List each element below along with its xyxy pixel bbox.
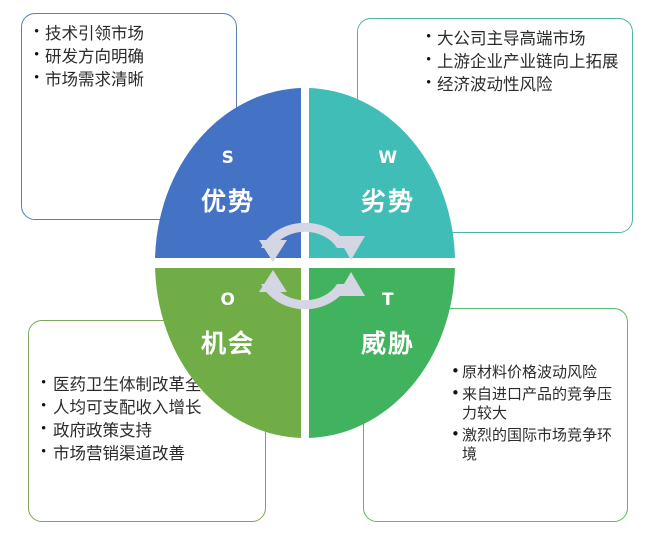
list-item: 研发方向明确 [34,47,224,68]
threats-list: 原材料价格波动风险 来自进口产品的竞争压力较大 激烈的国际市场竞争环境 [451,363,615,467]
swot-wheel: S 优势 W 劣势 O 机会 T 威胁 [155,88,455,438]
swot-diagram: 技术引领市场 研发方向明确 市场需求清晰 大公司主导高端市场 上游企业产业链向上… [0,0,662,540]
weaknesses-list: 大公司主导高端市场 上游企业产业链向上拓展 经济波动性风险 [370,29,620,95]
list-item: 上游企业产业链向上拓展 [426,52,620,73]
quadrant-opportunities [155,268,301,438]
quadrant-weaknesses-fill [309,88,455,258]
quadrant-weaknesses [309,88,455,258]
list-item: 经济波动性风险 [426,75,620,96]
list-item: 激烈的国际市场竞争环境 [451,426,615,465]
quadrant-threats [309,268,455,438]
quadrant-opportunities-fill [155,268,301,438]
quadrant-strengths [155,88,301,258]
list-item: 原材料价格波动风险 [451,363,615,383]
list-item: 来自进口产品的竞争压力较大 [451,385,615,424]
strengths-list: 技术引领市场 研发方向明确 市场需求清晰 [34,24,224,90]
list-item: 市场营销渠道改善 [41,444,253,465]
list-item: 大公司主导高端市场 [426,29,620,50]
list-item: 技术引领市场 [34,24,224,45]
quadrant-threats-fill [309,268,455,438]
quadrant-strengths-fill [155,88,301,258]
